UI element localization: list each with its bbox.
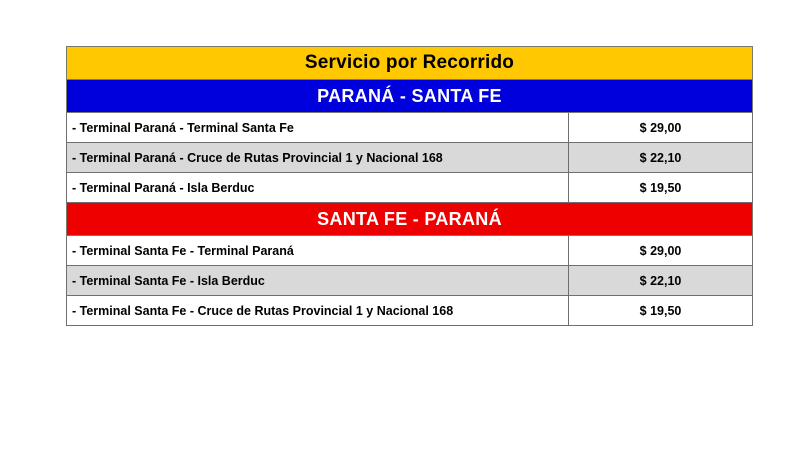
route-label: - Terminal Paraná - Isla Berduc [67,173,569,203]
table-row: - Terminal Santa Fe - Cruce de Rutas Pro… [67,296,753,326]
price-value: $ 29,00 [569,113,753,143]
route-label: - Terminal Paraná - Terminal Santa Fe [67,113,569,143]
price-value: $ 22,10 [569,266,753,296]
price-value: $ 19,50 [569,173,753,203]
page-canvas: Servicio por Recorrido PARANÁ - SANTA FE… [0,0,800,450]
table-row: - Terminal Paraná - Terminal Santa Fe $ … [67,113,753,143]
table-row: - Terminal Paraná - Isla Berduc $ 19,50 [67,173,753,203]
price-value: $ 22,10 [569,143,753,173]
section-header-santa-fe-parana: SANTA FE - PARANÁ [67,203,753,236]
section-header-label: PARANÁ - SANTA FE [67,80,753,113]
route-label: - Terminal Santa Fe - Isla Berduc [67,266,569,296]
table-row: - Terminal Paraná - Cruce de Rutas Provi… [67,143,753,173]
fare-table: Servicio por Recorrido PARANÁ - SANTA FE… [66,46,753,326]
page-title: Servicio por Recorrido [67,47,753,80]
table-row: - Terminal Santa Fe - Isla Berduc $ 22,1… [67,266,753,296]
section-header-parana-santa-fe: PARANÁ - SANTA FE [67,80,753,113]
table-title-row: Servicio por Recorrido [67,47,753,80]
route-label: - Terminal Santa Fe - Cruce de Rutas Pro… [67,296,569,326]
route-label: - Terminal Paraná - Cruce de Rutas Provi… [67,143,569,173]
price-value: $ 29,00 [569,236,753,266]
price-value: $ 19,50 [569,296,753,326]
table-row: - Terminal Santa Fe - Terminal Paraná $ … [67,236,753,266]
route-label: - Terminal Santa Fe - Terminal Paraná [67,236,569,266]
section-header-label: SANTA FE - PARANÁ [67,203,753,236]
